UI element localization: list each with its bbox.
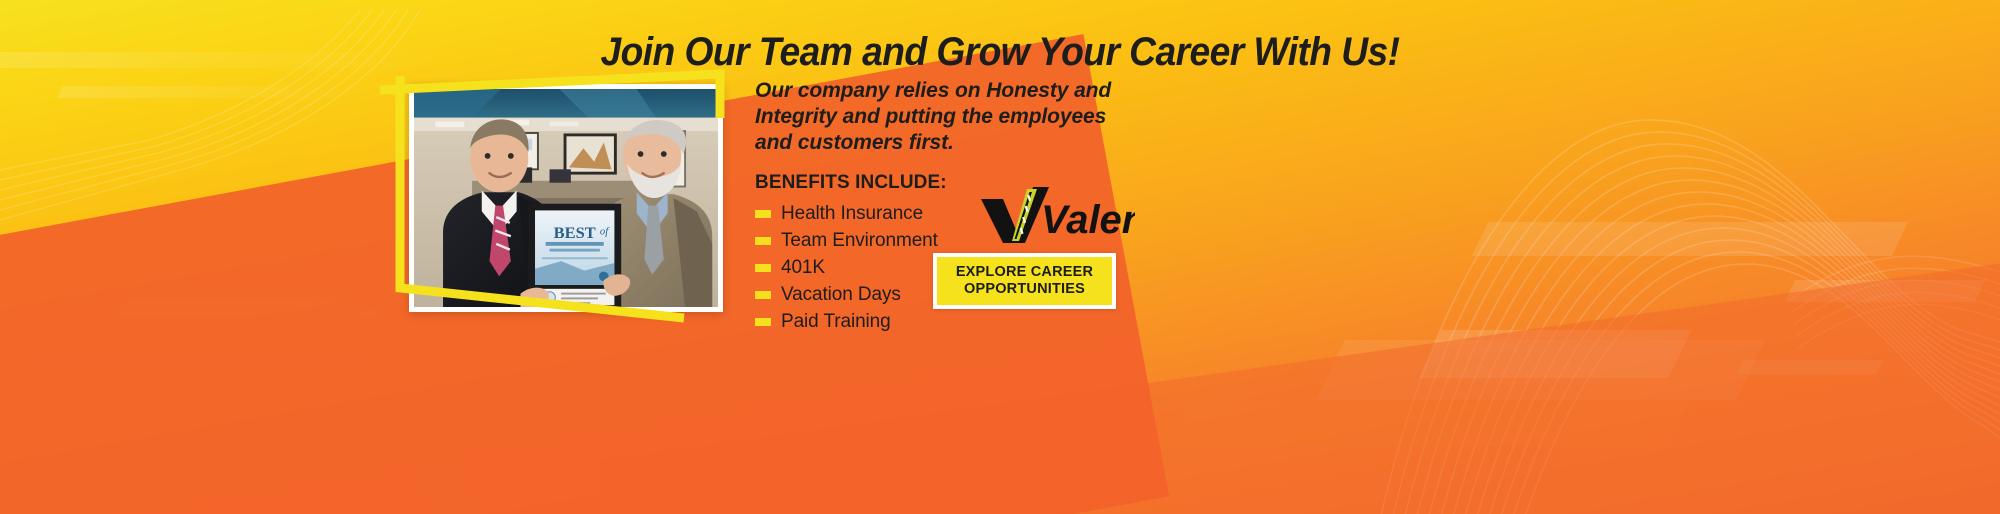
photo-block: BEST of xyxy=(409,84,723,312)
benefit-label: Team Environment xyxy=(781,230,938,252)
valenti-logo[interactable]: Valenti xyxy=(975,185,1135,243)
benefit-label: Health Insurance xyxy=(781,203,923,225)
decor-parallelogram-6 xyxy=(1169,402,1690,446)
decor-parallelogram-3 xyxy=(1418,330,1691,378)
decor-parallelogram-1 xyxy=(1472,222,1909,256)
bullet-dash-icon xyxy=(755,264,771,272)
svg-text:BEST: BEST xyxy=(554,223,596,242)
decor-parallelogram-5 xyxy=(1737,360,1884,374)
bullet-dash-icon xyxy=(755,237,771,245)
decor-parallelogram-8 xyxy=(25,352,365,372)
benefit-label: Vacation Days xyxy=(781,284,901,306)
banner-headline: Join Our Team and Grow Your Career With … xyxy=(70,30,1930,75)
list-item: Paid Training xyxy=(755,308,1115,335)
bullet-dash-icon xyxy=(755,291,771,299)
decor-parallelogram-4 xyxy=(1315,340,1764,400)
company-values-statement: Our company relies on Honesty and Integr… xyxy=(755,78,1115,156)
bullet-dash-icon xyxy=(755,318,771,326)
decor-parallelogram-2 xyxy=(1785,280,1986,302)
decor-parallelogram-7 xyxy=(116,300,384,316)
benefit-label: Paid Training xyxy=(781,311,891,333)
team-photo: BEST of xyxy=(409,84,723,312)
decor-beam-2 xyxy=(57,86,363,98)
logo-wordmark: Valenti xyxy=(1041,198,1135,242)
explore-career-opportunities-button[interactable]: EXPLORE CAREER OPPORTUNITIES xyxy=(933,253,1116,309)
careers-banner: Join Our Team and Grow Your Career With … xyxy=(0,0,2000,514)
benefit-label: 401K xyxy=(781,257,825,279)
bullet-dash-icon xyxy=(755,210,771,218)
